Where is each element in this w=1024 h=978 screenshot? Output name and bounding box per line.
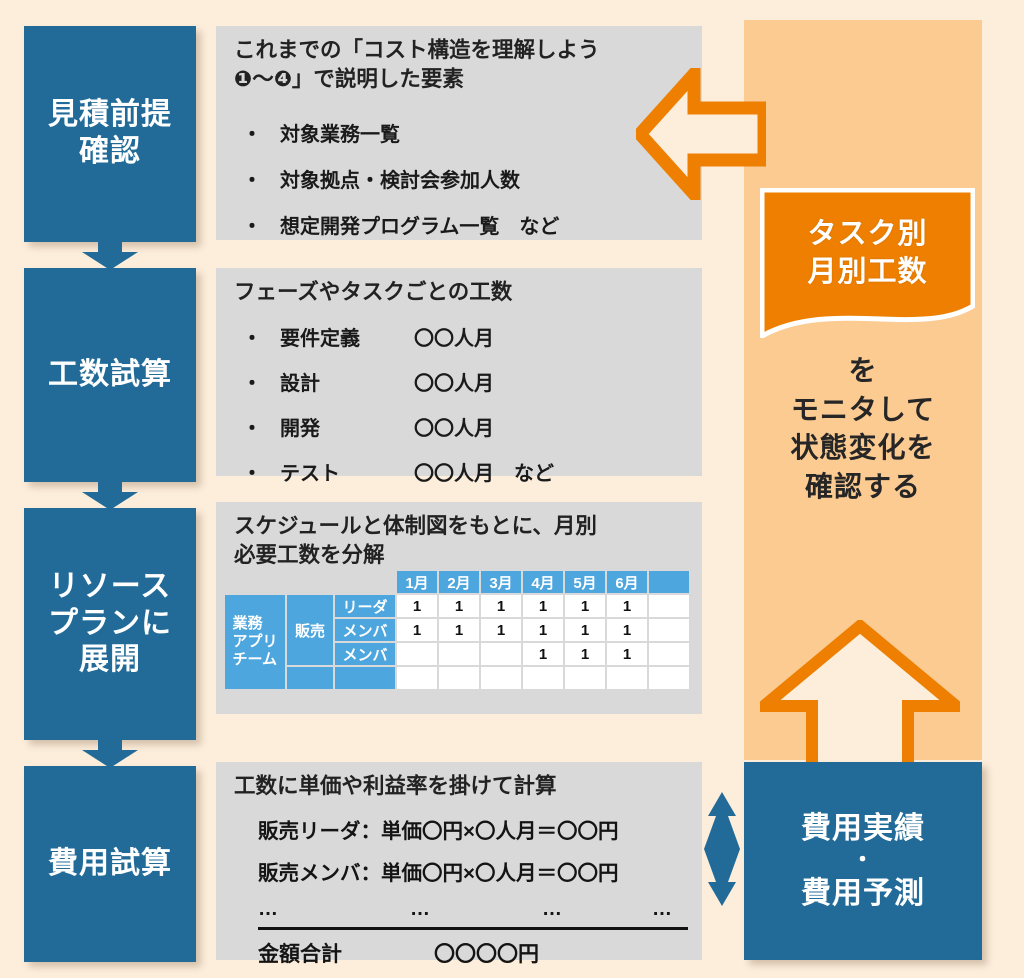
table-cell[interactable]: 1 xyxy=(522,594,564,618)
table-cell[interactable]: 1 xyxy=(522,618,564,642)
table-cell[interactable]: 1 xyxy=(438,618,480,642)
table-row-labels: 業務 アプリ チーム 販売 リーダメンバメンバ xyxy=(224,594,396,690)
list-item: ・ 想定開発プログラム一覧 など xyxy=(234,210,694,239)
cost-line: 販売メンバ：単価〇円×〇人月＝〇〇円 xyxy=(258,856,692,886)
list-item: ・ 要件定義 〇〇人月 xyxy=(234,322,694,351)
left-arrow-icon xyxy=(636,68,766,200)
down-arrow-icon xyxy=(80,738,140,768)
table-cell[interactable] xyxy=(648,666,690,690)
table-role-label: メンバ xyxy=(334,618,396,642)
bullet-name: 要件定義 xyxy=(280,322,414,351)
table-row: 111111 xyxy=(396,618,690,642)
step-box-resource-plan[interactable]: リソース プランに 展開 xyxy=(24,508,196,740)
monitoring-instruction-text: を モニタして 状態変化を 確認する xyxy=(744,352,982,507)
bullet-value: 〇〇人月 xyxy=(414,412,494,441)
bullet-marker: ・ xyxy=(234,367,280,396)
cost-forecast-label: 費用予測 xyxy=(801,875,925,913)
table-value-grid: 111111111111111 xyxy=(396,594,690,690)
table-cell[interactable]: 1 xyxy=(564,618,606,642)
table-cell[interactable] xyxy=(648,594,690,618)
bullet-name: 開発 xyxy=(280,412,414,441)
bullet-name: 設計 xyxy=(280,367,414,396)
step-label-4: 費用試算 xyxy=(24,846,196,883)
bullet-text: 対象業務一覧 xyxy=(280,118,400,147)
banner-label: タスク別 月別工数 xyxy=(760,216,975,291)
table-cell[interactable] xyxy=(480,666,522,690)
cost-total-row: 金額合計 〇〇〇〇円 xyxy=(258,938,692,968)
table-cell[interactable] xyxy=(648,618,690,642)
list-item: ・ 開発 〇〇人月 xyxy=(234,412,694,441)
bullet-text: 想定開発プログラム一覧 など xyxy=(280,210,559,239)
table-cell[interactable] xyxy=(438,642,480,666)
bullet-name: テスト xyxy=(280,457,414,486)
cost-actual-forecast-box[interactable]: 費用実績 ・ 費用予測 xyxy=(744,762,982,960)
step-box-cost-estimate[interactable]: 費用試算 xyxy=(24,766,196,962)
table-header-row: 1月2月3月4月5月6月 xyxy=(224,570,690,594)
table-cell[interactable] xyxy=(522,666,564,690)
panel3-title: スケジュールと体制図をもとに、月別 必要工数を分解 xyxy=(234,512,692,569)
table-role-label: リーダ xyxy=(334,594,396,618)
table-sub-label: 販売 xyxy=(286,594,334,666)
table-cell[interactable] xyxy=(396,642,438,666)
list-item: ・ 設計 〇〇人月 xyxy=(234,367,694,396)
table-role-column: リーダメンバメンバ xyxy=(334,594,396,690)
bullet-marker: ・ xyxy=(234,118,280,147)
table-month-header xyxy=(648,570,690,594)
table-month-header: 1月 xyxy=(396,570,438,594)
step-box-estimate-premise[interactable]: 見積前提 確認 xyxy=(24,26,196,242)
table-month-header: 4月 xyxy=(522,570,564,594)
bullet-text: 対象拠点・検討会参加人数 xyxy=(280,164,520,193)
step-label-3: リソース プランに 展開 xyxy=(24,569,196,679)
table-cell[interactable]: 1 xyxy=(606,594,648,618)
table-cell[interactable]: 1 xyxy=(396,618,438,642)
cost-line: 販売リーダ：単価〇円×〇人月＝〇〇円 xyxy=(258,814,692,844)
cost-ellipsis-row: … … … … xyxy=(258,898,692,921)
table-cell[interactable]: 1 xyxy=(606,618,648,642)
bullet-marker: ・ xyxy=(234,210,280,239)
table-month-header: 6月 xyxy=(606,570,648,594)
step-label-1: 見積前提 確認 xyxy=(24,97,196,170)
table-cell[interactable]: 1 xyxy=(480,594,522,618)
down-arrow-icon xyxy=(80,480,140,510)
panel1-bullet-list: ・ 対象業務一覧 ・ 対象拠点・検討会参加人数 ・ 想定開発プログラム一覧 など xyxy=(234,118,694,256)
down-arrow-icon xyxy=(80,240,140,270)
content-panel-premise: これまでの「コスト構造を理解しよう ❶〜❹」で説明した要素 ・ 対象業務一覧 ・… xyxy=(216,26,702,240)
content-panel-effort: フェーズやタスクごとの工数 ・ 要件定義 〇〇人月 ・ 設計 〇〇人月 ・ 開発… xyxy=(216,268,702,476)
table-month-header: 5月 xyxy=(564,570,606,594)
table-cell[interactable]: 1 xyxy=(396,594,438,618)
bullet-value: 〇〇人月 xyxy=(414,367,494,396)
bullet-marker: ・ xyxy=(234,457,280,486)
table-cell[interactable]: 1 xyxy=(480,618,522,642)
table-cell[interactable] xyxy=(648,642,690,666)
table-cell[interactable]: 1 xyxy=(522,642,564,666)
table-cell[interactable]: 1 xyxy=(606,642,648,666)
panel2-title: フェーズやタスクごとの工数 xyxy=(234,278,692,307)
monthly-effort-table[interactable]: 1月2月3月4月5月6月 業務 アプリ チーム 販売 リーダメンバメンバ 111… xyxy=(224,570,690,690)
table-sub-label-blank xyxy=(286,666,334,690)
table-row: 111 xyxy=(396,642,690,666)
table-role-label: メンバ xyxy=(334,642,396,666)
bullet-value: 〇〇人月 など xyxy=(414,457,554,486)
content-panel-cost: 工数に単価や利益率を掛けて計算 販売リーダ：単価〇円×〇人月＝〇〇円 販売メンバ… xyxy=(216,762,702,960)
table-cell[interactable]: 1 xyxy=(438,594,480,618)
table-cell[interactable] xyxy=(438,666,480,690)
ellipsis-cell: … xyxy=(410,898,542,921)
table-cell[interactable] xyxy=(396,666,438,690)
table-cell[interactable] xyxy=(606,666,648,690)
total-divider xyxy=(258,927,688,930)
total-label: 金額合計 xyxy=(258,938,434,968)
table-cell[interactable]: 1 xyxy=(564,642,606,666)
list-item: ・ 対象拠点・検討会参加人数 xyxy=(234,164,694,193)
ellipsis-cell: … xyxy=(652,898,672,921)
bullet-marker: ・ xyxy=(234,412,280,441)
table-group-label: 業務 アプリ チーム xyxy=(224,594,286,690)
double-headed-arrow-icon xyxy=(700,790,744,908)
table-month-header: 3月 xyxy=(480,570,522,594)
table-cell[interactable] xyxy=(480,642,522,666)
step-box-effort-estimate[interactable]: 工数試算 xyxy=(24,268,196,482)
panel1-title: これまでの「コスト構造を理解しよう ❶〜❹」で説明した要素 xyxy=(234,36,692,93)
panel2-bullet-list: ・ 要件定義 〇〇人月 ・ 設計 〇〇人月 ・ 開発 〇〇人月 ・ テスト 〇〇… xyxy=(234,322,694,502)
task-monthly-effort-banner: タスク別 月別工数 xyxy=(760,188,975,338)
table-row xyxy=(396,666,690,690)
list-item: ・ 対象業務一覧 xyxy=(234,118,694,147)
bullet-marker: ・ xyxy=(234,164,280,193)
diagram-canvas: 見積前提 確認 工数試算 リソース プランに 展開 費用試算 これまでの「コスト… xyxy=(0,0,1024,978)
table-role-label xyxy=(334,666,396,690)
panel4-title: 工数に単価や利益率を掛けて計算 xyxy=(234,772,692,801)
bullet-marker: ・ xyxy=(234,322,280,351)
total-value: 〇〇〇〇円 xyxy=(434,938,539,968)
separator-dot: ・ xyxy=(851,849,874,871)
ellipsis-cell: … xyxy=(258,898,410,921)
step-label-2: 工数試算 xyxy=(24,357,196,394)
table-cell[interactable]: 1 xyxy=(564,594,606,618)
table-body: 業務 アプリ チーム 販売 リーダメンバメンバ 111111111111111 xyxy=(224,594,690,690)
table-cell[interactable] xyxy=(564,666,606,690)
cost-calculation-lines: 販売リーダ：単価〇円×〇人月＝〇〇円 販売メンバ：単価〇円×〇人月＝〇〇円 … … xyxy=(258,814,692,968)
bullet-value: 〇〇人月 xyxy=(414,322,494,351)
list-item: ・ テスト 〇〇人月 など xyxy=(234,457,694,486)
cost-actual-label: 費用実績 xyxy=(801,810,925,848)
table-month-header: 2月 xyxy=(438,570,480,594)
table-row: 111111 xyxy=(396,594,690,618)
ellipsis-cell: … xyxy=(542,898,652,921)
